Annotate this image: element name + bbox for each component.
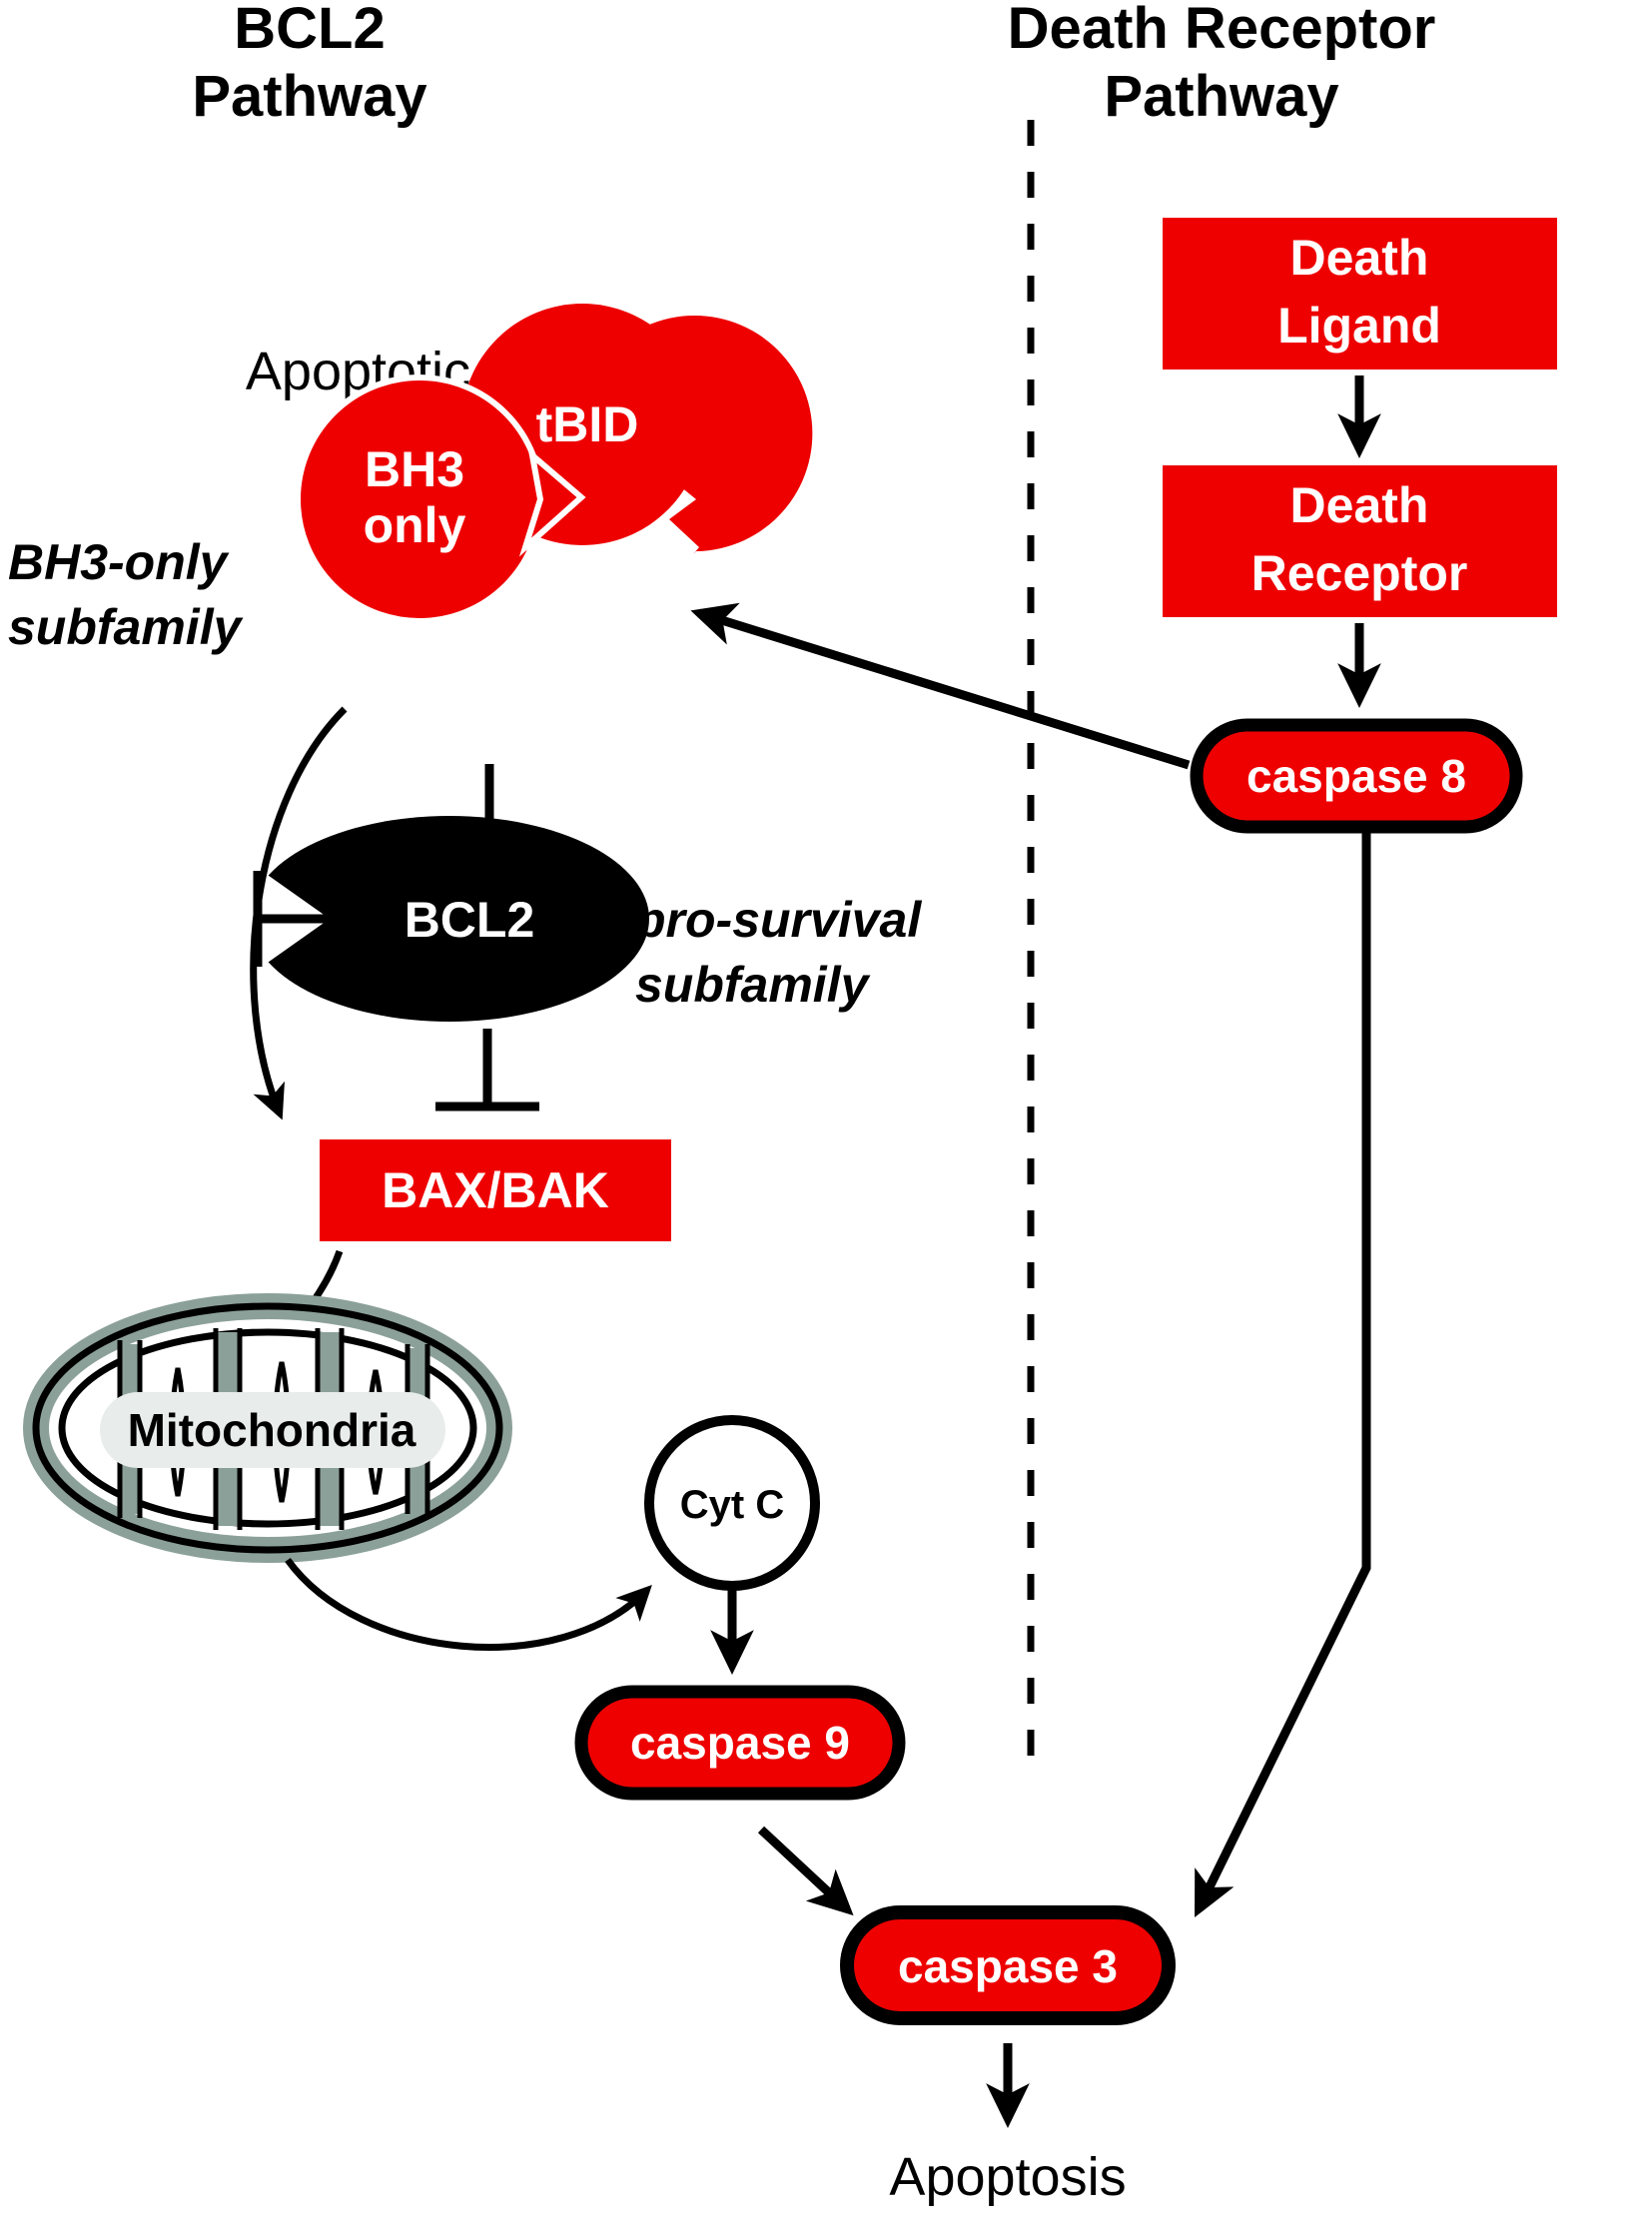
tbid-node-label: tBID [536, 396, 639, 452]
death-ligand-node[interactable]: Death Ligand [1163, 218, 1557, 370]
bcl2-node[interactable]: BCL2 [250, 816, 649, 1022]
mitochondria-node[interactable]: Mitochondria [36, 1306, 499, 1550]
bh3-subfamily-label-line2: subfamily [8, 599, 244, 655]
right-pathway-title-line2: Pathway [1104, 64, 1338, 129]
baxbak-node-label: BAX/BAK [382, 1162, 609, 1218]
cytc-node[interactable]: Cyt C [649, 1420, 815, 1586]
caspase9-node[interactable]: caspase 9 [581, 1692, 899, 1794]
pathway-canvas: BCL2 Pathway Death Receptor Pathway Apop… [0, 0, 1652, 2218]
death-receptor-label-line1: Death [1290, 477, 1429, 533]
bh3-only-label-line1: BH3 [365, 441, 464, 497]
caspase8-node-label: caspase 8 [1246, 750, 1466, 802]
caspase3-node-label: caspase 3 [898, 1940, 1118, 1992]
prosurvival-label-line2: subfamily [635, 957, 871, 1013]
bh3-only-label-line2: only [364, 497, 466, 553]
caspase9-node-label: caspase 9 [630, 1717, 850, 1769]
prosurvival-label-line1: pro-survival [633, 892, 922, 948]
death-receptor-label-line2: Receptor [1251, 545, 1468, 601]
left-pathway-title-line2: Pathway [192, 64, 426, 129]
right-pathway-title-line1: Death Receptor [1008, 0, 1436, 61]
mitochondria-node-label: Mitochondria [128, 1404, 416, 1456]
pathway-diagram: BCL2 Pathway Death Receptor Pathway Apop… [0, 0, 1652, 2218]
caspase3-node[interactable]: caspase 3 [847, 1912, 1169, 2018]
left-pathway-title-line1: BCL2 [234, 0, 385, 61]
baxbak-node[interactable]: BAX/BAK [320, 1139, 671, 1241]
cytc-node-label: Cyt C [680, 1483, 784, 1527]
death-ligand-label-line2: Ligand [1277, 298, 1441, 354]
bcl2-node-label: BCL2 [405, 892, 535, 948]
caspase8-node[interactable]: caspase 8 [1197, 725, 1516, 827]
death-ligand-label-line1: Death [1290, 230, 1429, 286]
bh3-subfamily-label-line1: BH3-only [8, 534, 230, 590]
death-receptor-node[interactable]: Death Receptor [1163, 465, 1557, 617]
apoptosis-label: Apoptosis [889, 2147, 1126, 2207]
